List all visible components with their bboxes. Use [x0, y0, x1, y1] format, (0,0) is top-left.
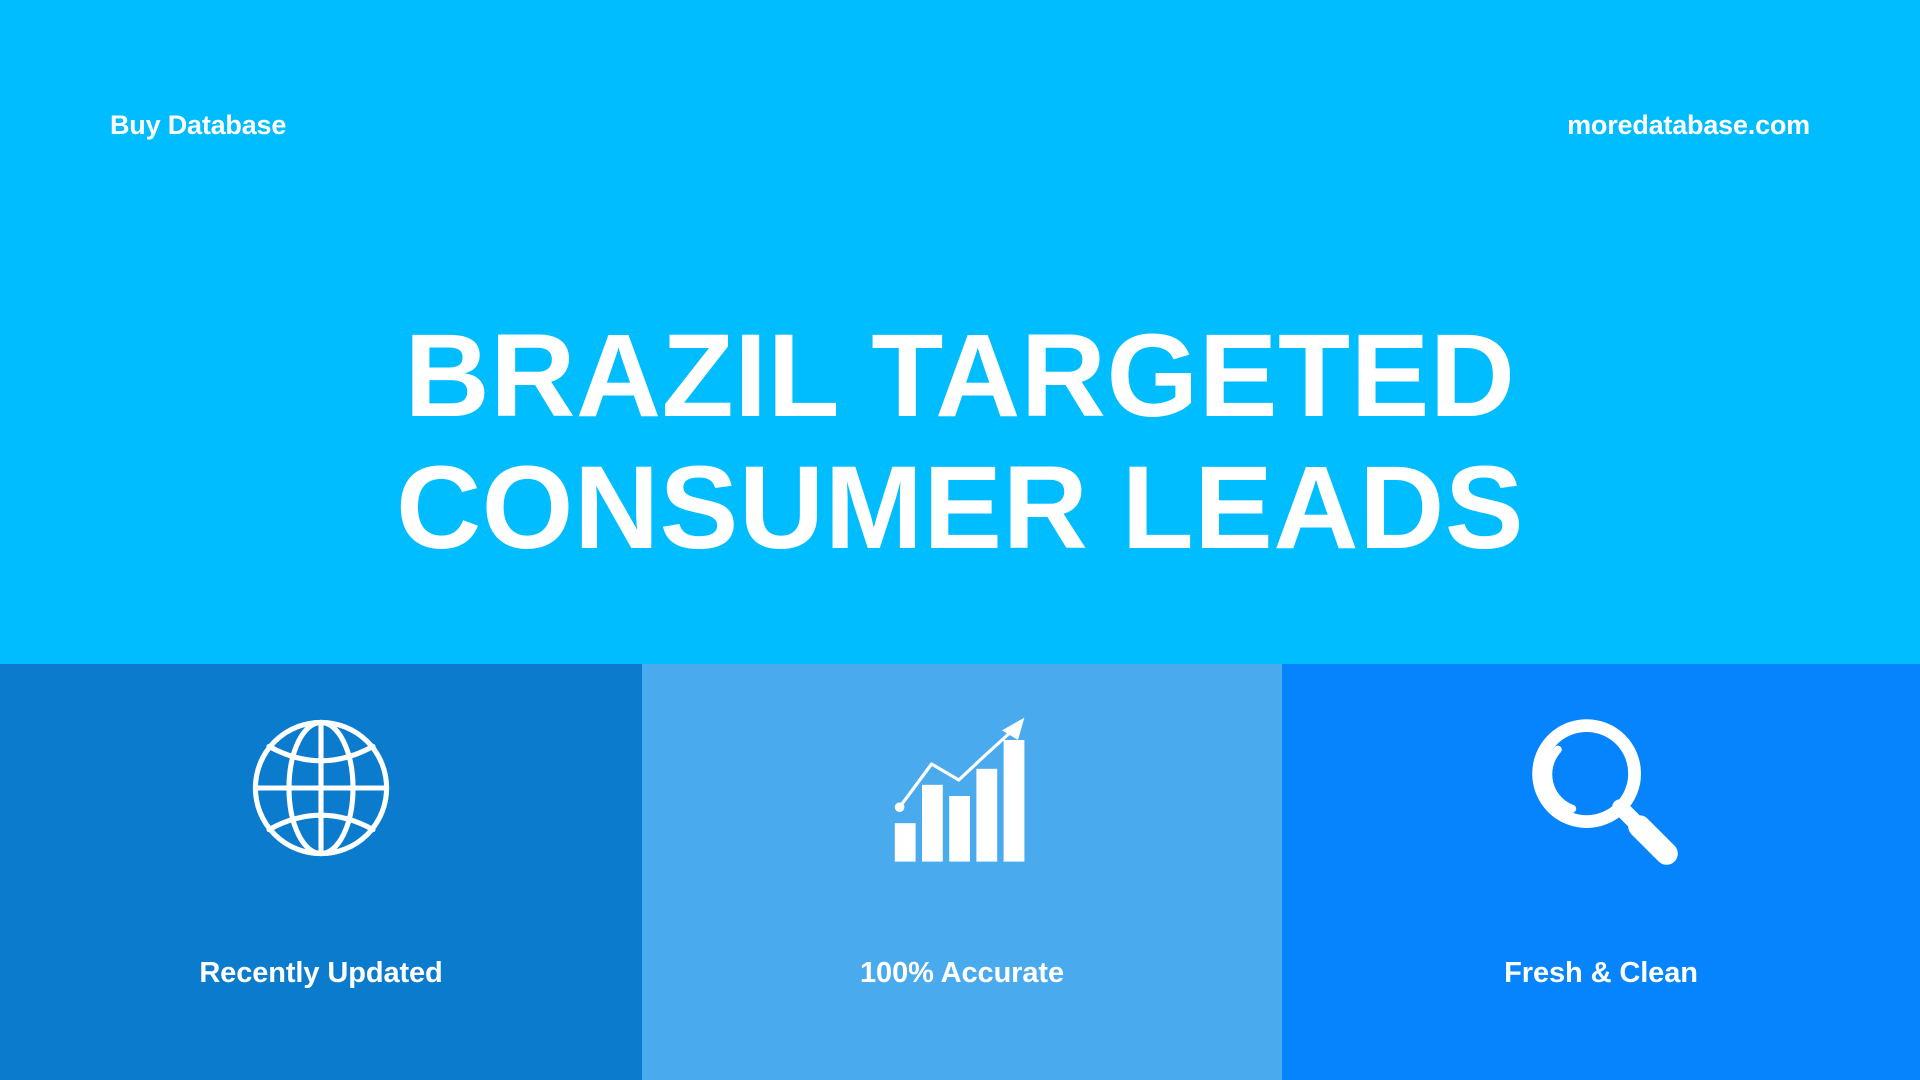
promo-banner: Buy Database moredatabase.com BRAZIL TAR…	[0, 0, 1920, 1080]
page-title: BRAZIL TARGETED CONSUMER LEADS	[0, 310, 1920, 574]
feature-label-accurate: 100% Accurate	[642, 957, 1282, 990]
hero-section: Buy Database moredatabase.com BRAZIL TAR…	[0, 0, 1920, 664]
globe-icon	[241, 708, 401, 868]
feature-label-recently-updated: Recently Updated	[0, 957, 642, 990]
feature-card-recently-updated: Recently Updated	[0, 664, 642, 1080]
brand-label: Buy Database	[110, 110, 286, 141]
magnifying-glass-icon	[1521, 708, 1681, 868]
feature-card-accurate: 100% Accurate	[642, 664, 1282, 1080]
growth-bar-chart-icon	[882, 708, 1042, 868]
page-title-line-2: CONSUMER LEADS	[0, 442, 1920, 574]
site-url-label: moredatabase.com	[1567, 110, 1810, 141]
feature-label-fresh-clean: Fresh & Clean	[1282, 957, 1920, 990]
page-title-line-1: BRAZIL TARGETED	[0, 310, 1920, 442]
hero-topbar: Buy Database moredatabase.com	[0, 104, 1920, 146]
feature-strip: Recently Updated	[0, 664, 1920, 1080]
feature-card-fresh-clean: Fresh & Clean	[1282, 664, 1920, 1080]
